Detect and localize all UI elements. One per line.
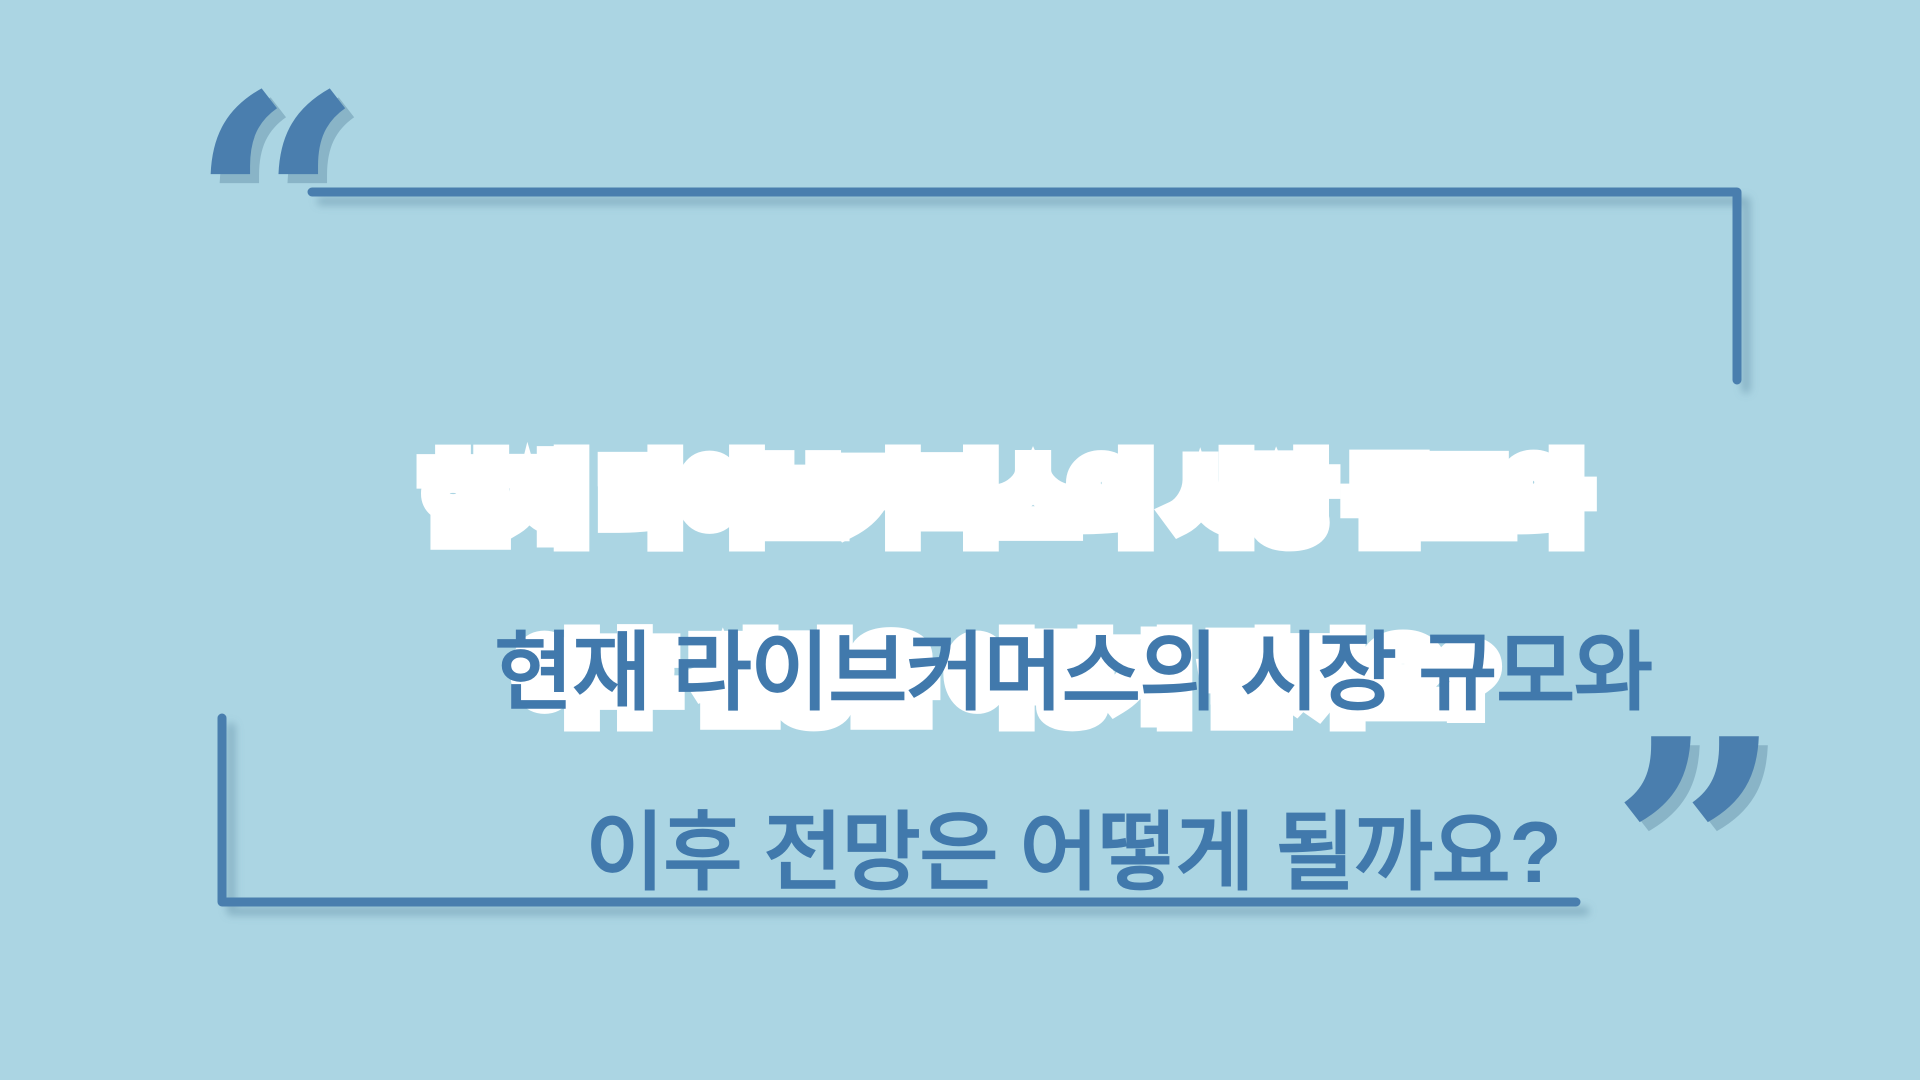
headline-line-1-outline: 현재 라이브커머스의 시장 규모와 [359, 458, 1652, 544]
headline-line-2-fill: 이후 전망은 어떻게 될까요? [585, 805, 1560, 901]
opening-quotation-mark: “ [190, 56, 363, 356]
slide-canvas: “ ” 현재 라이브커머스의 시장 규모와 현재 라이브커머스의 시장 규모와 … [0, 0, 1920, 1080]
headline-line-1-fill: 현재 라이브커머스의 시장 규모와 [494, 625, 1651, 721]
